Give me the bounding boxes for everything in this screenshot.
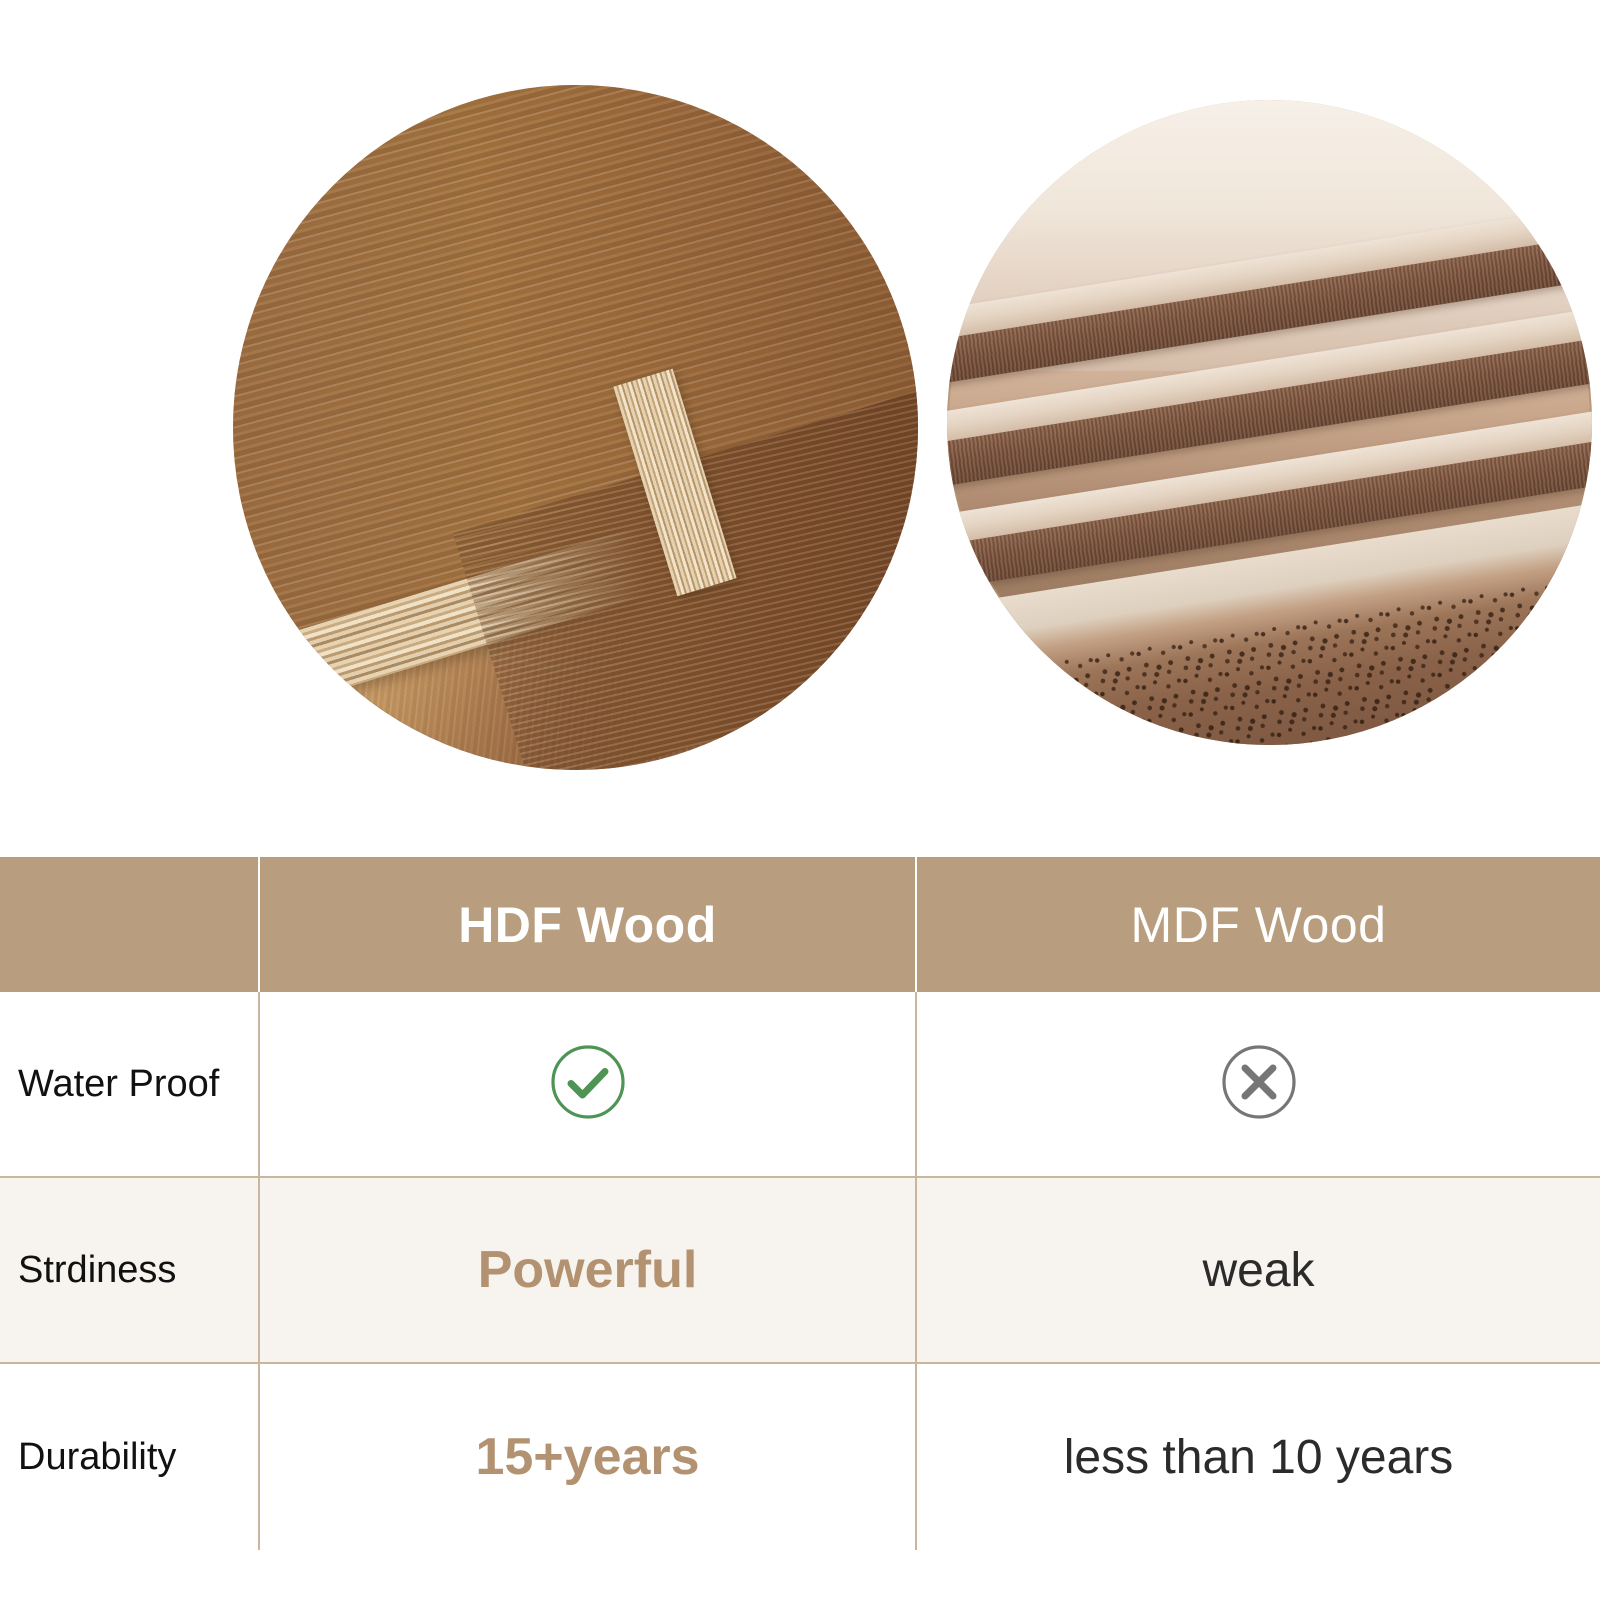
hdf-plywood-photo [233,85,918,770]
row-mdf-cell: less than 10 years [915,1364,1600,1550]
product-image-banner [0,0,1600,857]
row-feature-cell: Water Proof [0,992,258,1176]
mdf-board-photo [947,100,1592,745]
feature-label: Water Proof [18,1063,219,1106]
mdf-particle-texture [947,552,1592,745]
header-cell-hdf: HDF Wood [258,857,915,992]
row-hdf-cell: Powerful [258,1178,915,1362]
row-mdf-cell [915,992,1600,1176]
row-hdf-cell: 15+years [258,1364,915,1550]
feature-label: Strdiness [18,1249,176,1292]
check-circle-icon [549,1043,627,1126]
table-row: Strdiness Powerful weak [0,1178,1600,1364]
header-cell-feature [0,857,258,992]
table-header-row: HDF Wood MDF Wood [0,857,1600,992]
hdf-value: 15+years [475,1427,699,1487]
table-row: Durability 15+years less than 10 years [0,1364,1600,1550]
column-title-hdf: HDF Wood [458,896,717,954]
row-mdf-cell: weak [915,1178,1600,1362]
hdf-value: Powerful [478,1240,698,1300]
cross-circle-icon [1220,1043,1298,1126]
comparison-table: HDF Wood MDF Wood Water Proof [0,857,1600,1550]
header-cell-mdf: MDF Wood [915,857,1600,992]
row-hdf-cell [258,992,915,1176]
row-feature-cell: Durability [0,1364,258,1550]
row-feature-cell: Strdiness [0,1178,258,1362]
table-row: Water Proof [0,992,1600,1178]
column-title-mdf: MDF Wood [1131,896,1387,954]
mdf-value: less than 10 years [1064,1430,1454,1485]
mdf-value: weak [1202,1243,1314,1298]
feature-label: Durability [18,1436,176,1479]
